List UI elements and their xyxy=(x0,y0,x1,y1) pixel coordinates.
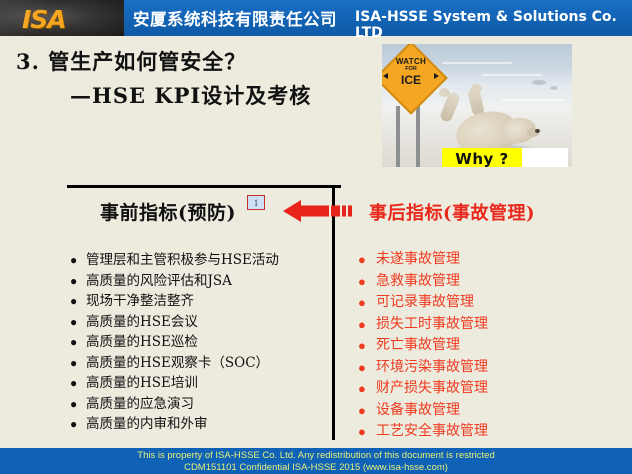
list-item-label: 高质量的应急演习 xyxy=(86,394,194,414)
bullet-icon: ● xyxy=(70,291,86,311)
list-item-label: 高质量的HSE会议 xyxy=(86,312,198,332)
snow-rock xyxy=(550,86,558,90)
bullet-icon: ● xyxy=(70,250,86,270)
leading-indicators-list: ● 管理层和主管积极参与HSE活动 ● 高质量的风险评估和JSA ● 现场干净整… xyxy=(70,250,325,435)
isa-logo-block: ISA xyxy=(0,0,124,36)
list-item: ● 管理层和主管积极参与HSE活动 xyxy=(70,250,325,271)
list-item: ● 损失工时事故管理 xyxy=(358,314,628,336)
sign-arrow-left-icon xyxy=(383,73,388,79)
list-item-label: 现场干净整洁整齐 xyxy=(86,291,194,311)
bullet-icon: ● xyxy=(358,271,376,292)
sign-word-for: FOR xyxy=(385,67,437,73)
list-item: ● 可记录事故管理 xyxy=(358,292,628,314)
list-item: ● 高质量的HSE巡检 xyxy=(70,332,325,353)
list-item-label: 工艺安全事故管理 xyxy=(376,421,488,442)
vertical-divider-line xyxy=(332,186,335,440)
list-item: ● 环境污染事故管理 xyxy=(358,357,628,379)
bullet-icon: ● xyxy=(358,292,376,313)
list-item: ● 高质量的内审和外审 xyxy=(70,414,325,435)
list-item-label: 可记录事故管理 xyxy=(376,292,474,313)
list-item: ● 高质量的HSE培训 xyxy=(70,373,325,394)
bullet-icon: ● xyxy=(358,357,376,378)
bullet-icon: ● xyxy=(70,312,86,332)
bullet-icon: ● xyxy=(70,373,86,393)
list-item-label: 高质量的风险评估和JSA xyxy=(86,271,232,291)
slide-title-line-1: 3. 管生产如何管安全？ xyxy=(16,46,246,76)
sign-post-right xyxy=(416,106,420,167)
red-left-arrow-icon xyxy=(283,200,366,222)
sign-word-ice: ICE xyxy=(385,74,437,86)
bullet-icon: ● xyxy=(358,249,376,270)
bullet-icon: ● xyxy=(358,335,376,356)
bullet-icon: ● xyxy=(70,394,86,414)
list-item: ● 高质量的HSE会议 xyxy=(70,312,325,333)
list-item-label: 高质量的HSE巡检 xyxy=(86,332,198,352)
list-item: ● 死亡事故管理 xyxy=(358,335,628,357)
left-column-heading: 事前指标(预防) xyxy=(100,198,236,225)
bullet-icon: ● xyxy=(358,400,376,421)
snow-streak xyxy=(442,62,512,64)
list-item: ● 未遂事故管理 xyxy=(358,249,628,271)
company-name-english: ISA-HSSE System & Solutions Co. LTD xyxy=(355,9,632,41)
list-item-label: 死亡事故管理 xyxy=(376,335,460,356)
bullet-icon: ● xyxy=(70,414,86,434)
footer-copyright-line: This is property of ISA-HSSE Co. Ltd. An… xyxy=(0,448,632,461)
slide-header-bar: ISA 安厦系统科技有限责任公司 ISA-HSSE System & Solut… xyxy=(0,0,632,36)
list-item-label: 急救事故管理 xyxy=(376,271,460,292)
bear-paw xyxy=(439,88,450,97)
list-item: ● 现场干净整洁整齐 xyxy=(70,291,325,312)
slide-footer-bar: This is property of ISA-HSSE Co. Ltd. An… xyxy=(0,448,632,474)
polar-bear-ice-photo: WATCH FOR ICE Why ? xyxy=(382,44,572,167)
snow-streak xyxy=(482,74,542,76)
list-item-label: 设备事故管理 xyxy=(376,400,460,421)
bullet-icon: ● xyxy=(358,421,376,442)
sign-arrow-right-icon xyxy=(434,73,439,79)
list-item: ● 工艺安全事故管理 xyxy=(358,421,628,443)
list-item-label: 高质量的HSE培训 xyxy=(86,373,198,393)
sign-post-left xyxy=(396,106,400,167)
list-item: ● 设备事故管理 xyxy=(358,400,628,422)
list-item-label: 未遂事故管理 xyxy=(376,249,460,270)
snow-streak xyxy=(502,99,566,101)
bullet-icon: ● xyxy=(358,378,376,399)
why-callout-text: Why ? xyxy=(455,150,508,167)
bullet-icon: ● xyxy=(70,332,86,352)
list-item: ● 财产损失事故管理 xyxy=(358,378,628,400)
list-item: ● 高质量的HSE观察卡（SOC） xyxy=(70,353,325,374)
horizontal-divider-line xyxy=(67,185,341,188)
list-item: ● 急救事故管理 xyxy=(358,271,628,293)
right-column-heading: 事后指标(事故管理) xyxy=(369,199,535,225)
slide-canvas: ISA 安厦系统科技有限责任公司 ISA-HSSE System & Solut… xyxy=(0,0,632,474)
snow-rock xyxy=(532,80,546,85)
list-item-label: 高质量的HSE观察卡（SOC） xyxy=(86,353,269,373)
list-item: ● 高质量的应急演习 xyxy=(70,394,325,415)
footer-document-id-line: CDM151101 Confidential ISA-HSSE 2015 (ww… xyxy=(0,461,632,473)
sign-word-watch: WATCH xyxy=(385,58,437,66)
callout-white-strip xyxy=(522,148,568,167)
list-item-label: 管理层和主管积极参与HSE活动 xyxy=(86,250,279,270)
comment-marker-badge[interactable]: 1 xyxy=(247,195,265,210)
sign-text-group: WATCH FOR ICE xyxy=(385,58,437,86)
list-item-label: 环境污染事故管理 xyxy=(376,357,488,378)
list-item: ● 高质量的风险评估和JSA xyxy=(70,271,325,292)
list-item-label: 财产损失事故管理 xyxy=(376,378,488,399)
bullet-icon: ● xyxy=(70,271,86,291)
why-callout-box: Why ? xyxy=(442,148,522,167)
bullet-icon: ● xyxy=(70,353,86,373)
slide-title-line-2: —HSE KPI设计及考核 xyxy=(70,80,311,110)
company-name-chinese: 安厦系统科技有限责任公司 xyxy=(133,6,337,30)
bear-nose xyxy=(535,129,540,133)
list-item-label: 高质量的内审和外审 xyxy=(86,414,208,434)
lagging-indicators-list: ● 未遂事故管理 ● 急救事故管理 ● 可记录事故管理 ● 损失工时事故管理 ●… xyxy=(358,249,628,443)
bear-paw xyxy=(471,84,482,93)
bullet-icon: ● xyxy=(358,314,376,335)
isa-logo-text: ISA xyxy=(22,5,66,34)
list-item-label: 损失工时事故管理 xyxy=(376,314,488,335)
